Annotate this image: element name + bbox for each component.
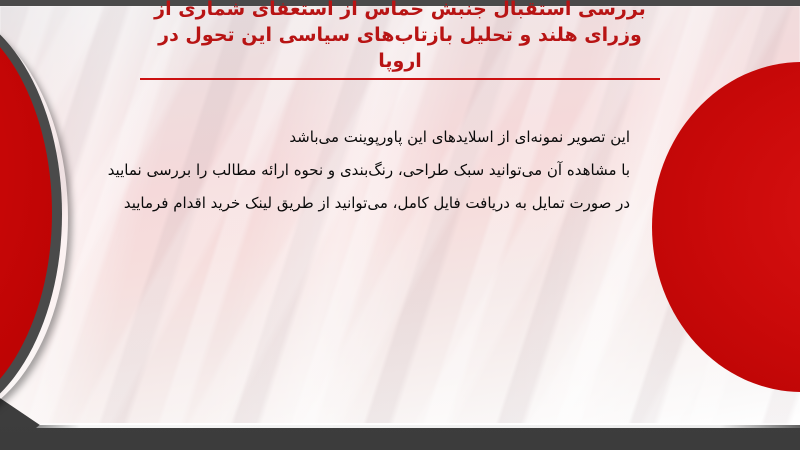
body-line-2: با مشاهده آن می‌توانید سبک طراحی، رنگ‌بن… [160, 154, 630, 187]
body-line-3: در صورت تمایل به دریافت فایل کامل، می‌تو… [160, 187, 630, 220]
slide-body-text: این تصویر نمونه‌ای از اسلایدهای این پاور… [160, 121, 630, 220]
title-line-1: بررسی استقبال جنبش حماس از استعفای شماری… [138, 0, 662, 22]
title-line-2: وزرای هلند و تحلیل بازتاب‌های سیاسی این … [138, 22, 662, 48]
slide-title: بررسی استقبال جنبش حماس از استعفای شماری… [138, 0, 662, 74]
body-line-1: این تصویر نمونه‌ای از اسلایدهای این پاور… [160, 121, 630, 154]
title-line-3: اروپا [138, 48, 662, 74]
title-divider-rule [140, 78, 660, 80]
slide-canvas: بررسی استقبال جنبش حماس از استعفای شماری… [0, 0, 800, 450]
